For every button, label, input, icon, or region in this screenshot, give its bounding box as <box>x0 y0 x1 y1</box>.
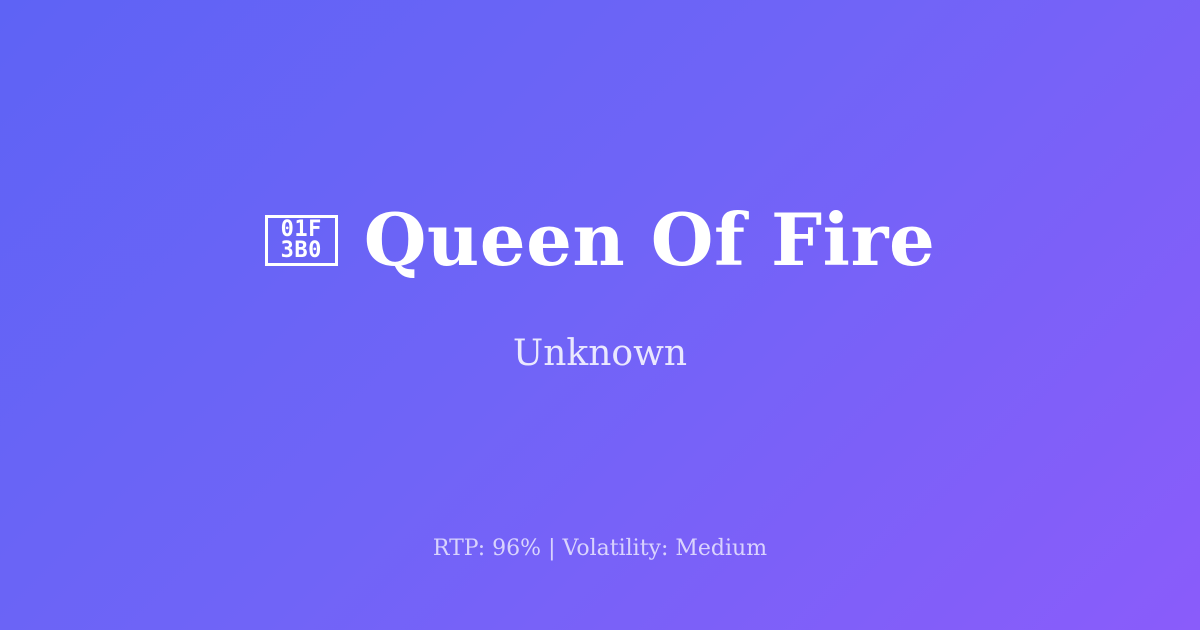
slot-machine-icon-codepoint-top: 01F <box>281 219 322 240</box>
game-meta-line: RTP: 96% | Volatility: Medium <box>0 536 1200 562</box>
game-provider-subtitle: Unknown <box>513 334 687 374</box>
page-title: Queen Of Fire <box>364 202 936 278</box>
slot-machine-icon: 01F 3B0 <box>265 215 338 266</box>
title-row: 01F 3B0 Queen Of Fire <box>265 202 936 278</box>
slot-machine-icon-codepoint-bottom: 3B0 <box>281 240 322 261</box>
game-preview-card: 01F 3B0 Queen Of Fire Unknown RTP: 96% |… <box>0 0 1200 630</box>
hero-block: 01F 3B0 Queen Of Fire Unknown <box>0 202 1200 373</box>
